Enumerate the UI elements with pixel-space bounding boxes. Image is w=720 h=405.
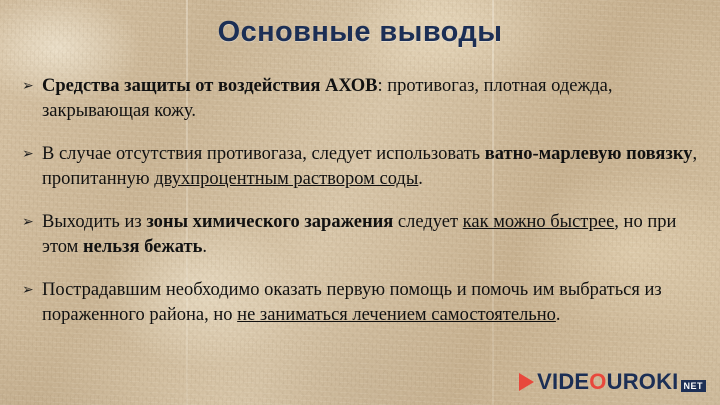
videouroki-logo: VIDEOUROKI NET xyxy=(519,369,706,395)
bullet-text-2: В случае отсутствия противогаза, следует… xyxy=(42,142,698,192)
bullet-marker-icon: ➢ xyxy=(22,278,42,301)
bullet-list: ➢ Средства защиты от воздействия АХОВ: п… xyxy=(22,74,698,328)
bullet-item-4: ➢ Пострадавшим необходимо оказать первую… xyxy=(22,278,698,328)
bullet-text-3: Выходить из зоны химического заражения с… xyxy=(42,210,698,260)
slide: Основные выводы ➢ Средства защиты от воз… xyxy=(0,0,720,405)
bullet-text-4: Пострадавшим необходимо оказать первую п… xyxy=(42,278,698,328)
slide-title: Основные выводы xyxy=(0,16,720,49)
bullet-item-2: ➢ В случае отсутствия противогаза, следу… xyxy=(22,142,698,192)
bullet-marker-icon: ➢ xyxy=(22,74,42,97)
bullet-marker-icon: ➢ xyxy=(22,210,42,233)
logo-wordmark: VIDEOUROKI xyxy=(537,369,678,395)
bullet-text-1: Средства защиты от воздействия АХОВ: про… xyxy=(42,74,698,124)
bullet-marker-icon: ➢ xyxy=(22,142,42,165)
play-triangle-icon xyxy=(519,373,534,391)
bullet-item-1: ➢ Средства защиты от воздействия АХОВ: п… xyxy=(22,74,698,124)
logo-part-3: UROKI xyxy=(607,369,679,394)
logo-part-2: O xyxy=(589,369,606,394)
logo-part-1: VIDE xyxy=(537,369,589,394)
logo-domain-suffix: NET xyxy=(681,380,707,392)
bullet-item-3: ➢ Выходить из зоны химического заражения… xyxy=(22,210,698,260)
